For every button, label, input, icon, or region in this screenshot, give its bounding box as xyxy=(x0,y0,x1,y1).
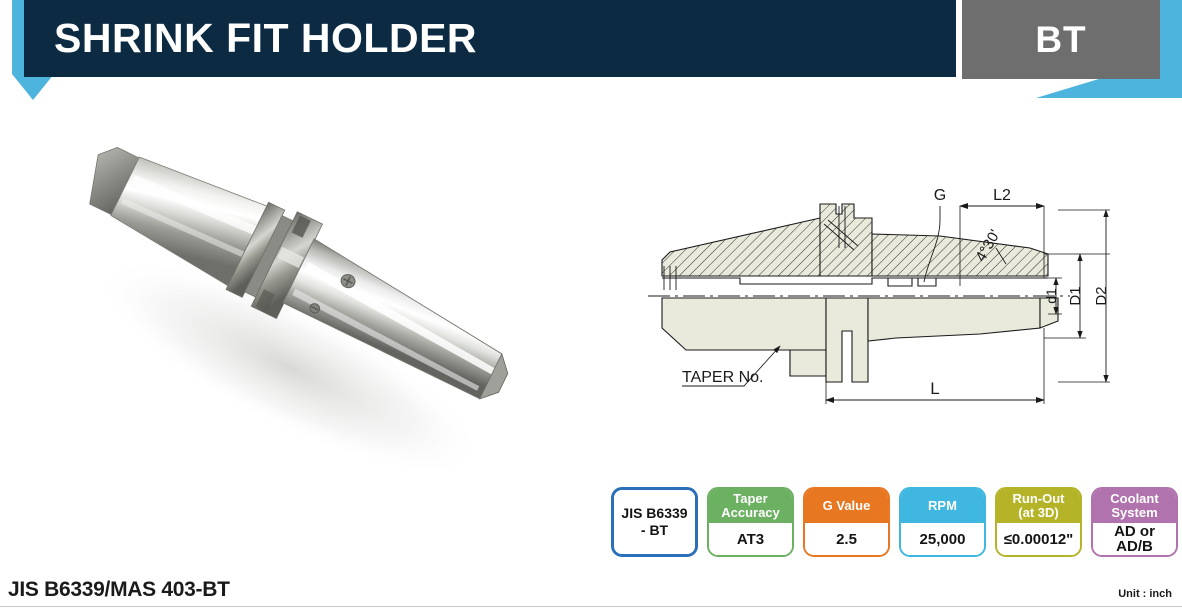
spec-badge-coolant-system-head-line1: Coolant xyxy=(1110,492,1158,506)
spec-badge-standard-line1: JIS B6339 xyxy=(621,505,687,522)
spec-badge-taper-accuracy[interactable]: Taper Accuracy AT3 xyxy=(707,487,794,557)
spec-badge-run-out[interactable]: Run-Out (at 3D) ≤0.00012" xyxy=(995,487,1082,557)
footer-standard-label: JIS B6339/MAS 403-BT xyxy=(8,578,230,602)
page-title: SHRINK FIT HOLDER xyxy=(54,0,477,77)
spec-badge-coolant-system-head-line2: System xyxy=(1111,506,1157,520)
spec-badge-rpm-value: 25,000 xyxy=(901,523,984,555)
spec-badge-taper-accuracy-head: Taper Accuracy xyxy=(709,489,792,523)
spec-badge-g-value[interactable]: G Value 2.5 xyxy=(803,487,890,557)
spec-badge-rpm-head-line1: RPM xyxy=(928,499,957,513)
spec-badge-g-value-head: G Value xyxy=(805,489,888,523)
spec-badge-standard-line2: - BT xyxy=(641,522,668,539)
spec-badge-standard-value: JIS B6339 - BT xyxy=(614,490,695,554)
spec-badge-run-out-head-line2: (at 3D) xyxy=(1018,506,1058,520)
page-header: SHRINK FIT HOLDER BT xyxy=(0,0,1182,110)
dimension-label-d2: D2 xyxy=(1093,286,1110,305)
spec-badge-taper-accuracy-value: AT3 xyxy=(709,523,792,555)
dimension-label-d1: D1 xyxy=(1067,286,1084,305)
spec-badge-taper-accuracy-head-line1: Taper xyxy=(733,492,767,506)
product-photo xyxy=(40,118,600,468)
technical-drawing-svg: G L2 4°30' d1 D1 D2 L TAPER No. xyxy=(640,186,1180,412)
footer-divider xyxy=(0,606,1182,607)
spec-badge-coolant-system-head: Coolant System xyxy=(1093,489,1176,523)
technical-drawing: G L2 4°30' d1 D1 D2 L TAPER No. xyxy=(640,186,1180,412)
callout-taper-no: TAPER No. xyxy=(682,369,764,386)
dimension-label-g: G xyxy=(934,187,946,204)
spec-badge-g-value-head-line1: G Value xyxy=(823,499,871,513)
spec-badge-standard[interactable]: JIS B6339 - BT xyxy=(611,487,698,557)
spec-badge-rpm[interactable]: RPM 25,000 xyxy=(899,487,986,557)
spec-badge-coolant-system[interactable]: Coolant System AD or AD/B xyxy=(1091,487,1178,557)
spec-badge-row: JIS B6339 - BT Taper Accuracy AT3 G Valu… xyxy=(611,487,1178,557)
spec-badge-run-out-head: Run-Out (at 3D) xyxy=(997,489,1080,523)
spec-badge-rpm-head: RPM xyxy=(901,489,984,523)
dimension-label-l2: L2 xyxy=(993,187,1011,204)
spec-badge-coolant-system-value: AD or AD/B xyxy=(1093,523,1176,555)
spec-badge-taper-accuracy-head-line2: Accuracy xyxy=(721,506,780,520)
spec-badge-g-value-value: 2.5 xyxy=(805,523,888,555)
dimension-label-l: L xyxy=(930,379,939,398)
footer-unit-label: Unit : inch xyxy=(1118,588,1172,600)
dimension-label-d1-small: d1 xyxy=(1043,288,1059,304)
taper-type-badge-label: BT xyxy=(962,0,1160,79)
product-photo-image xyxy=(40,118,600,468)
taper-type-badge: BT xyxy=(962,0,1160,79)
spec-badge-run-out-value: ≤0.00012" xyxy=(997,523,1080,555)
spec-badge-run-out-head-line1: Run-Out xyxy=(1013,492,1065,506)
